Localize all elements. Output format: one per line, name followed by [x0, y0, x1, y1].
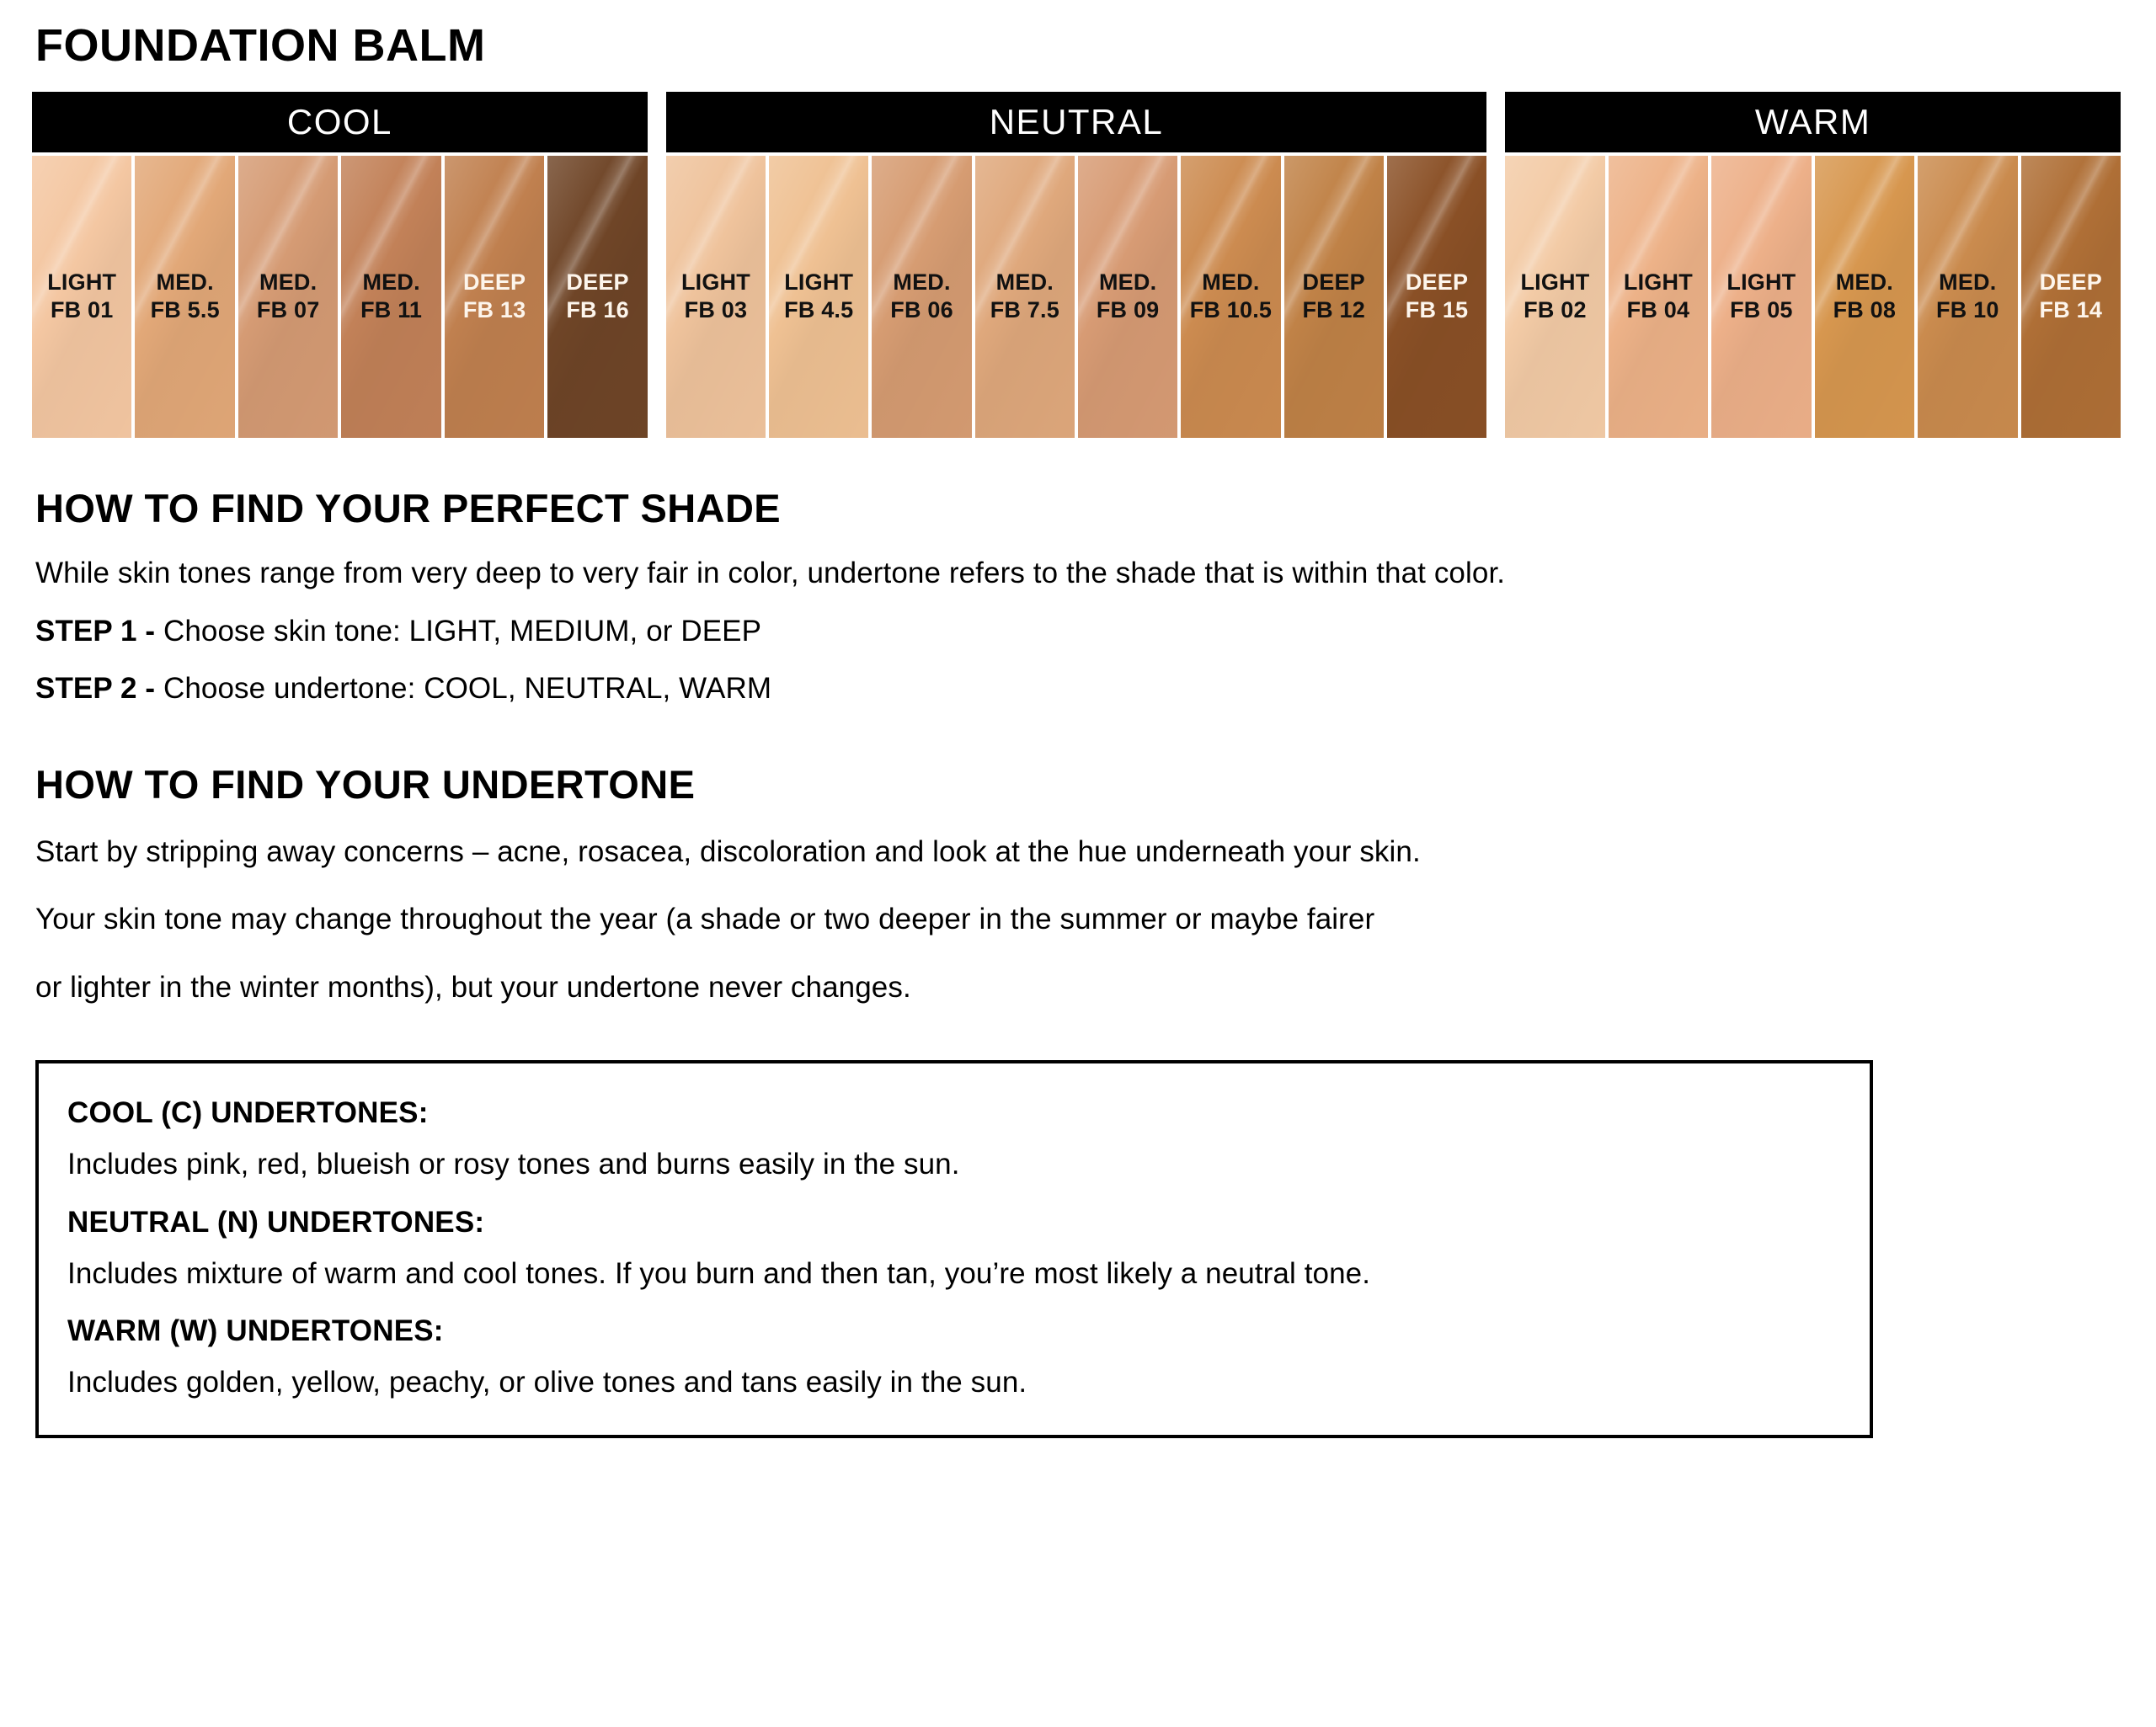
perfect-shade-section: HOW TO FIND YOUR PERFECT SHADE While ski…: [30, 487, 2126, 710]
perfect-shade-title: HOW TO FIND YOUR PERFECT SHADE: [35, 487, 2126, 530]
undertone-section: HOW TO FIND YOUR UNDERTONE Start by stri…: [30, 763, 2126, 1008]
shade-swatch[interactable]: MED. FB 5.5: [135, 156, 234, 438]
undertone-definitions-box: COOL (C) UNDERTONES: Includes pink, red,…: [35, 1060, 1873, 1438]
shade-swatch[interactable]: LIGHT FB 4.5: [769, 156, 868, 438]
swatch-label: LIGHT FB 03: [681, 269, 750, 324]
shade-group-neutral: NEUTRAL LIGHT FB 03 LIGHT FB 4.5: [666, 92, 1486, 438]
undertone-term: NEUTRAL (N) UNDERTONES:: [67, 1205, 1841, 1240]
swatch-row-warm: LIGHT FB 02 LIGHT FB 04 LIGH: [1505, 156, 2121, 438]
swatch-label: MED. FB 07: [257, 269, 320, 324]
swatch-label: DEEP FB 16: [566, 269, 629, 324]
swatch-tone: MED.: [151, 269, 220, 296]
step-1-lead: STEP 1 -: [35, 615, 163, 648]
undertone-line-2: Your skin tone may change throughout the…: [35, 899, 2126, 940]
swatch-code: FB 03: [681, 296, 750, 324]
swatch-code: FB 12: [1302, 296, 1365, 324]
shade-swatch[interactable]: MED. FB 09: [1078, 156, 1177, 438]
swatch-label: DEEP FB 14: [2040, 269, 2103, 324]
swatch-label: DEEP FB 12: [1302, 269, 1365, 324]
perfect-shade-step-2: STEP 2 - Choose undertone: COOL, NEUTRAL…: [35, 669, 2126, 709]
swatch-tone: MED.: [1936, 269, 1999, 296]
swatch-code: FB 7.5: [990, 296, 1059, 324]
shade-swatch[interactable]: LIGHT FB 01: [32, 156, 131, 438]
group-header-cool: COOL: [32, 92, 648, 152]
swatch-code: FB 15: [1406, 296, 1469, 324]
swatch-code: FB 14: [2040, 296, 2103, 324]
undertone-description: Includes mixture of warm and cool tones.…: [67, 1255, 1841, 1293]
swatch-code: FB 08: [1833, 296, 1897, 324]
shade-swatch[interactable]: LIGHT FB 05: [1711, 156, 1811, 438]
swatch-tone: DEEP: [566, 269, 629, 296]
swatch-code: FB 06: [890, 296, 953, 324]
shade-swatch[interactable]: LIGHT FB 02: [1505, 156, 1604, 438]
swatch-label: MED. FB 10: [1936, 269, 1999, 324]
shade-swatch[interactable]: DEEP FB 15: [1387, 156, 1486, 438]
swatch-code: FB 05: [1726, 296, 1796, 324]
swatch-label: MED. FB 10.5: [1190, 269, 1272, 324]
swatch-tone: MED.: [990, 269, 1059, 296]
swatch-label: DEEP FB 15: [1406, 269, 1469, 324]
group-header-warm: WARM: [1505, 92, 2121, 152]
shade-swatch[interactable]: DEEP FB 14: [2021, 156, 2121, 438]
swatch-tone: DEEP: [463, 269, 526, 296]
swatch-tone: MED.: [1833, 269, 1897, 296]
shade-swatch[interactable]: DEEP FB 13: [445, 156, 544, 438]
undertone-entry-neutral: NEUTRAL (N) UNDERTONES: Includes mixture…: [67, 1205, 1841, 1293]
shade-finder-page: FOUNDATION BALM COOL LIGHT FB 01: [0, 0, 2156, 1727]
swatch-tone: MED.: [360, 269, 422, 296]
undertone-line-3: or lighter in the winter months), but yo…: [35, 967, 2126, 1008]
swatch-label: MED. FB 09: [1097, 269, 1160, 324]
swatch-code: FB 04: [1624, 296, 1693, 324]
swatch-tone: LIGHT: [681, 269, 750, 296]
undertone-title: HOW TO FIND YOUR UNDERTONE: [35, 763, 2126, 807]
swatch-label: LIGHT FB 4.5: [784, 269, 853, 324]
swatch-code: FB 02: [1520, 296, 1589, 324]
step-1-text: Choose skin tone: LIGHT, MEDIUM, or DEEP: [163, 615, 761, 648]
swatch-row-neutral: LIGHT FB 03 LIGHT FB 4.5 MED: [666, 156, 1486, 438]
undertone-entry-cool: COOL (C) UNDERTONES: Includes pink, red,…: [67, 1095, 1841, 1183]
swatch-tone: LIGHT: [1726, 269, 1796, 296]
shade-swatch[interactable]: MED. FB 10.5: [1181, 156, 1280, 438]
swatch-label: MED. FB 5.5: [151, 269, 220, 324]
swatch-label: MED. FB 06: [890, 269, 953, 324]
swatch-tone: MED.: [1190, 269, 1272, 296]
shade-swatch[interactable]: DEEP FB 12: [1284, 156, 1384, 438]
swatch-tone: LIGHT: [1624, 269, 1693, 296]
swatch-label: MED. FB 7.5: [990, 269, 1059, 324]
swatch-code: FB 07: [257, 296, 320, 324]
swatch-row-cool: LIGHT FB 01 MED. FB 5.5 MED.: [32, 156, 648, 438]
shade-chart: COOL LIGHT FB 01 MED. FB 5.5: [30, 92, 2126, 438]
shade-swatch[interactable]: LIGHT FB 04: [1609, 156, 1708, 438]
swatch-code: FB 11: [360, 296, 422, 324]
shade-group-warm: WARM LIGHT FB 02 LIGHT FB 04: [1505, 92, 2121, 438]
undertone-line-1: Start by stripping away concerns – acne,…: [35, 832, 2126, 872]
swatch-code: FB 13: [463, 296, 526, 324]
shade-swatch[interactable]: MED. FB 06: [872, 156, 971, 438]
step-2-text: Choose undertone: COOL, NEUTRAL, WARM: [163, 672, 771, 705]
swatch-code: FB 4.5: [784, 296, 853, 324]
swatch-tone: DEEP: [2040, 269, 2103, 296]
swatch-label: LIGHT FB 01: [47, 269, 116, 324]
undertone-term: WARM (W) UNDERTONES:: [67, 1314, 1841, 1349]
step-2-lead: STEP 2 -: [35, 672, 163, 705]
swatch-tone: MED.: [1097, 269, 1160, 296]
swatch-label: LIGHT FB 05: [1726, 269, 1796, 324]
swatch-code: FB 01: [47, 296, 116, 324]
swatch-tone: MED.: [890, 269, 953, 296]
shade-swatch[interactable]: DEEP FB 16: [547, 156, 647, 438]
shade-swatch[interactable]: LIGHT FB 03: [666, 156, 766, 438]
undertone-description: Includes pink, red, blueish or rosy tone…: [67, 1146, 1841, 1183]
swatch-tone: DEEP: [1302, 269, 1365, 296]
swatch-tone: LIGHT: [1520, 269, 1589, 296]
swatch-tone: LIGHT: [47, 269, 116, 296]
shade-swatch[interactable]: MED. FB 07: [238, 156, 338, 438]
swatch-code: FB 5.5: [151, 296, 220, 324]
swatch-code: FB 16: [566, 296, 629, 324]
swatch-code: FB 09: [1097, 296, 1160, 324]
undertone-entry-warm: WARM (W) UNDERTONES: Includes golden, ye…: [67, 1314, 1841, 1401]
perfect-shade-intro: While skin tones range from very deep to…: [35, 553, 2126, 594]
perfect-shade-step-1: STEP 1 - Choose skin tone: LIGHT, MEDIUM…: [35, 611, 2126, 652]
shade-group-cool: COOL LIGHT FB 01 MED. FB 5.5: [32, 92, 648, 438]
page-title: FOUNDATION BALM: [30, 0, 2126, 70]
swatch-label: LIGHT FB 04: [1624, 269, 1693, 324]
shade-swatch[interactable]: MED. FB 10: [1918, 156, 2017, 438]
shade-swatch[interactable]: MED. FB 7.5: [975, 156, 1075, 438]
swatch-label: MED. FB 08: [1833, 269, 1897, 324]
swatch-tone: DEEP: [1406, 269, 1469, 296]
shade-swatch[interactable]: MED. FB 08: [1815, 156, 1914, 438]
swatch-label: LIGHT FB 02: [1520, 269, 1589, 324]
swatch-tone: LIGHT: [784, 269, 853, 296]
swatch-code: FB 10: [1936, 296, 1999, 324]
swatch-code: FB 10.5: [1190, 296, 1272, 324]
shade-swatch[interactable]: MED. FB 11: [341, 156, 440, 438]
group-header-neutral: NEUTRAL: [666, 92, 1486, 152]
undertone-term: COOL (C) UNDERTONES:: [67, 1095, 1841, 1131]
swatch-label: MED. FB 11: [360, 269, 422, 324]
swatch-tone: MED.: [257, 269, 320, 296]
swatch-label: DEEP FB 13: [463, 269, 526, 324]
undertone-description: Includes golden, yellow, peachy, or oliv…: [67, 1364, 1841, 1401]
